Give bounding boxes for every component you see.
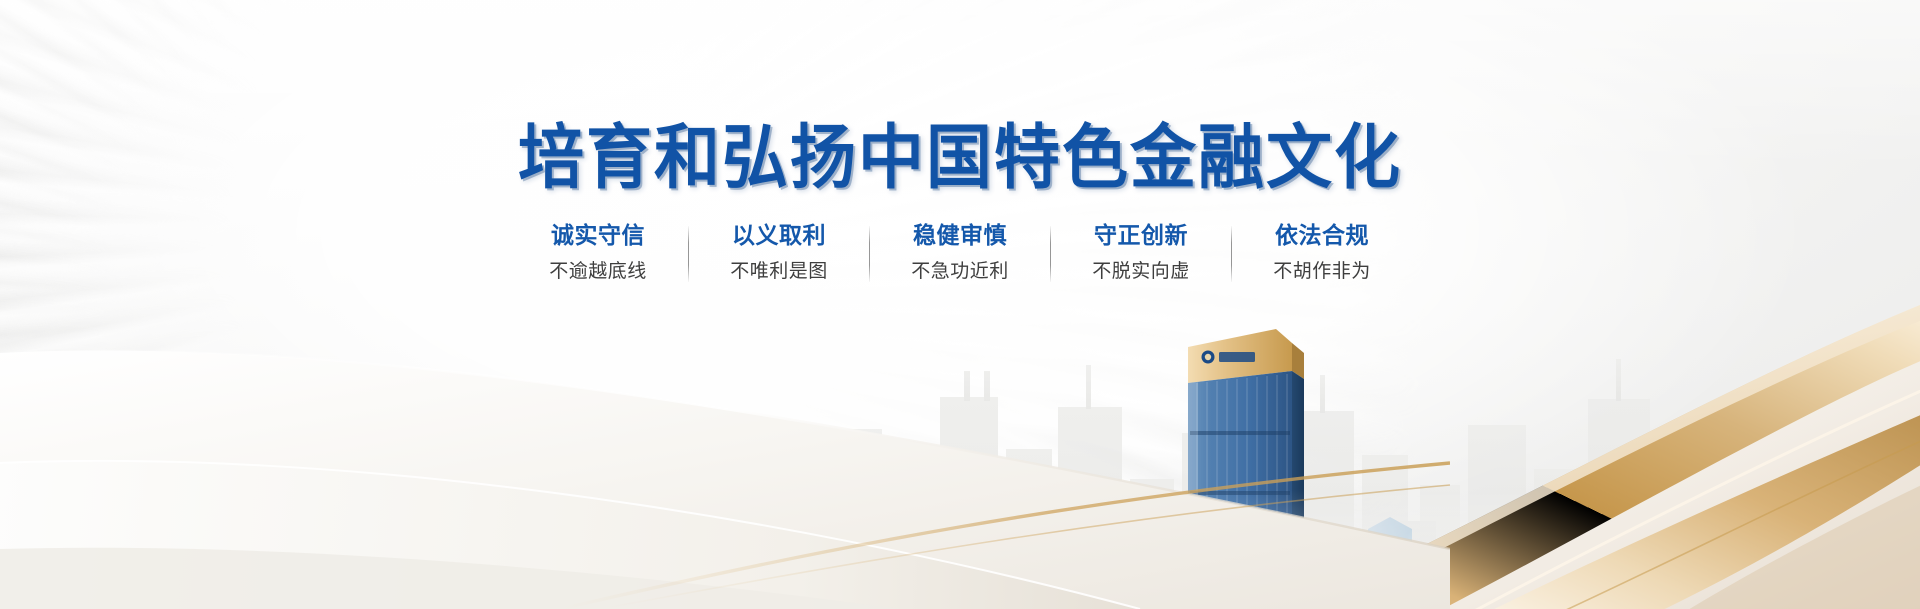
phrase-heading: 守正创新 [1067,222,1215,251]
phrase-list: 诚实守信 不逾越底线 以义取利 不唯利是图 稳健审慎 不急功近利 守正创新 不脱… [0,222,1920,284]
phrase-divider [688,226,689,282]
phrase-divider [1050,226,1051,282]
phrase-item-2: 稳健审慎 不急功近利 [886,222,1034,284]
phrase-divider [869,226,870,282]
phrase-divider [1231,226,1232,282]
phrase-heading: 以义取利 [705,222,853,251]
phrase-subtext: 不唯利是图 [705,260,853,284]
background-top-fade [0,0,1920,609]
phrase-heading: 诚实守信 [524,222,672,251]
phrase-subtext: 不胡作非为 [1248,260,1396,284]
phrase-heading: 依法合规 [1248,222,1396,251]
phrase-item-0: 诚实守信 不逾越底线 [524,222,672,284]
phrase-item-1: 以义取利 不唯利是图 [705,222,853,284]
phrase-item-3: 守正创新 不脱实向虚 [1067,222,1215,284]
phrase-heading: 稳健审慎 [886,222,1034,251]
phrase-item-4: 依法合规 不胡作非为 [1248,222,1396,284]
page-title: 培育和弘扬中国特色金融文化 [0,123,1920,193]
banner-root: 培育和弘扬中国特色金融文化 诚实守信 不逾越底线 以义取利 不唯利是图 稳健审慎… [0,0,1920,609]
phrase-subtext: 不逾越底线 [524,260,672,284]
phrase-subtext: 不脱实向虚 [1067,260,1215,284]
phrase-subtext: 不急功近利 [886,260,1034,284]
